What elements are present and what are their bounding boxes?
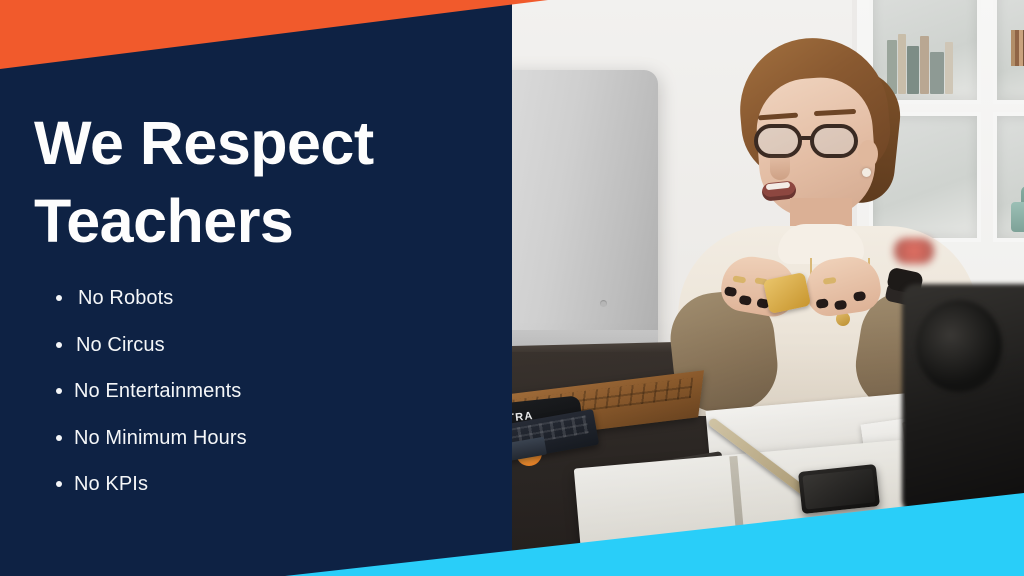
glasses-bridge: [800, 136, 814, 140]
photo-teacher-at-desk: NITRA: [512, 0, 1024, 576]
camera-lens: [916, 300, 1002, 392]
smartphone: [798, 464, 880, 514]
fingernail: [816, 298, 829, 309]
fingernail: [739, 295, 752, 306]
pencils: [1011, 30, 1024, 66]
imac-monitor: [512, 70, 658, 370]
page-title: We Respect Teachers: [34, 104, 474, 260]
lens-right: [810, 124, 858, 158]
shelf-pane-top-right: [993, 0, 1024, 104]
list-item: No KPIs: [44, 472, 474, 496]
nose: [770, 152, 790, 180]
fingernail: [853, 291, 866, 302]
ring: [823, 277, 837, 285]
list-item: No Entertainments: [44, 379, 474, 403]
ring: [732, 275, 746, 283]
shelf-pane-bottom-right: [993, 112, 1024, 242]
earring: [862, 168, 871, 177]
green-glass: [1011, 202, 1024, 232]
benefits-list: No Robots No Circus No Entertainments No…: [44, 286, 474, 519]
fingernail: [834, 300, 847, 311]
text-content: We Respect Teachers No Robots No Circus …: [0, 0, 512, 576]
imac-logo-dot: [600, 300, 607, 307]
list-item: No Circus: [44, 333, 474, 357]
camera-red-light: [894, 238, 934, 264]
fingernail: [724, 286, 737, 297]
slide-canvas: NITRA We Respect Teachers No Robots No C…: [0, 0, 1024, 576]
list-item: No Minimum Hours: [44, 426, 474, 450]
list-item: No Robots: [44, 286, 474, 310]
